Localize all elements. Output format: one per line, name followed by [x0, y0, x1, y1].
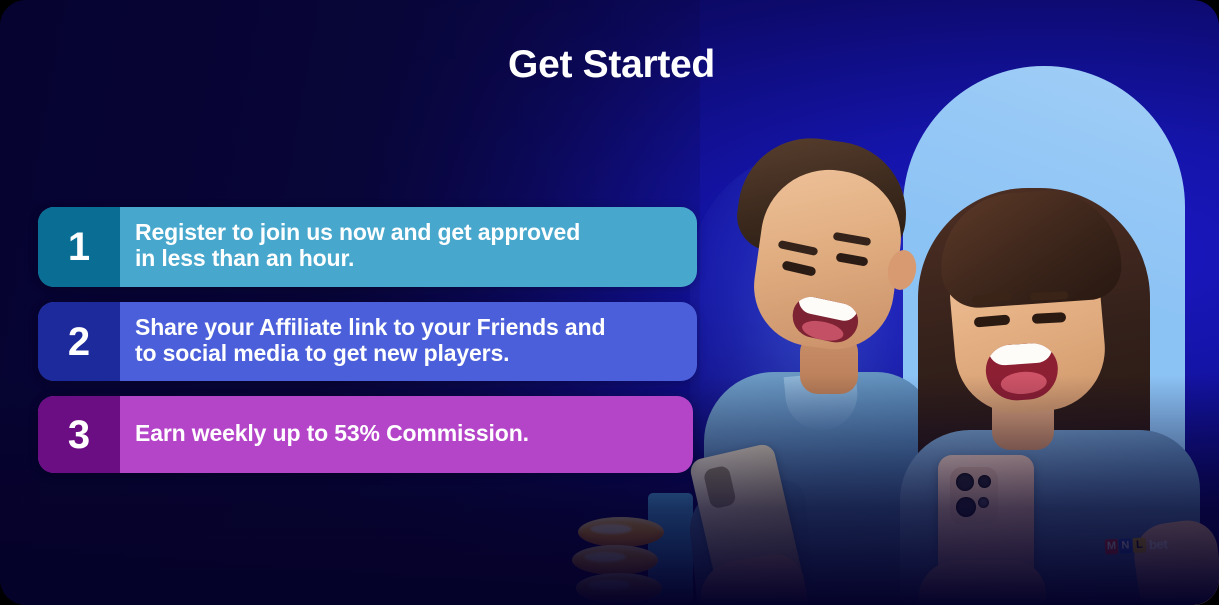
step-text-3-line1: Earn weekly up to 53% Commission. — [135, 421, 529, 447]
step-text-2-line2: to social media to get new players. — [135, 341, 605, 367]
step-text-1: Register to join us now and get approved… — [120, 207, 697, 287]
step-text-1-line2: in less than an hour. — [135, 246, 580, 272]
step-text-2-line1: Share your Affiliate link to your Friend… — [135, 315, 605, 341]
steps-list: 1 Register to join us now and get approv… — [38, 207, 698, 488]
page-title-text: Get Started — [508, 45, 715, 84]
step-card-2[interactable]: 2 Share your Affiliate link to your Frie… — [38, 302, 697, 381]
step-card-3[interactable]: 3 Earn weekly up to 53% Commission. — [38, 396, 693, 473]
step-card-1[interactable]: 1 Register to join us now and get approv… — [38, 207, 697, 287]
step-number-3: 3 — [38, 396, 120, 473]
step-number-2: 2 — [38, 302, 120, 381]
page-title: Get Started — [0, 45, 1219, 84]
step-text-3: Earn weekly up to 53% Commission. — [120, 396, 693, 473]
step-number-1: 1 — [38, 207, 120, 287]
step-text-2: Share your Affiliate link to your Friend… — [120, 302, 697, 381]
step-text-1-line1: Register to join us now and get approved — [135, 220, 580, 246]
get-started-banner: M N L bet Get Started 1 Register to join… — [0, 0, 1219, 605]
